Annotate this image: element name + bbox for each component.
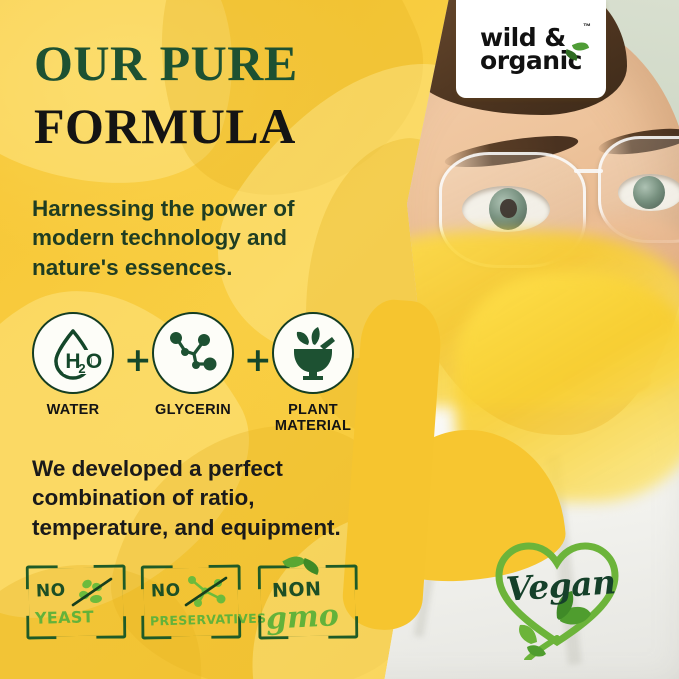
ingredient-water: H 2 O WATER	[32, 312, 114, 419]
non-gmo-badge: NON gmo	[258, 565, 358, 639]
ingredient-plant-material: PLANT MATERIAL	[272, 312, 354, 434]
crossed-out-molecule-icon	[183, 575, 229, 609]
product-infographic-poster: wild & ™ organic OUR PURE FORMULA Harnes…	[0, 0, 679, 679]
plus-separator: +	[244, 340, 272, 379]
vegan-badge: Vegan	[487, 534, 627, 660]
lips	[562, 367, 650, 396]
plus-separator: +	[124, 340, 152, 379]
no-yeast-badge: NO YEAST	[26, 565, 126, 639]
eyeglasses-bridge	[574, 169, 603, 173]
brand-logo[interactable]: wild & ™ organic	[456, 0, 606, 98]
badge-top-text: NON	[272, 578, 322, 602]
ingredient-label-plant: PLANT MATERIAL	[272, 403, 354, 434]
page-title-line-1: OUR PURE	[34, 34, 298, 92]
vegan-label: Vegan	[505, 562, 617, 609]
logo-line-1: wild &	[480, 26, 582, 49]
svg-text:O: O	[86, 350, 102, 373]
ingredient-glycerin: GLYCERIN	[152, 312, 234, 419]
ingredient-label-line-2: MATERIAL	[275, 418, 351, 434]
badge-top-text: NO	[36, 580, 66, 601]
crossed-out-yeast-icon	[70, 577, 114, 609]
glycerin-molecule-icon	[152, 312, 234, 394]
ingredient-label-line-1: PLANT	[288, 402, 338, 418]
ingredient-label: GLYCERIN	[152, 403, 234, 419]
page-title-line-2: FORMULA	[34, 97, 296, 155]
badge-bottom-text: gmo	[265, 598, 339, 637]
water-drop-h2o-icon: H 2 O	[32, 312, 114, 394]
certification-badges: NO YEAST NO PRESERVATIVES	[26, 565, 371, 645]
lead-paragraph: Harnessing the power of modern technolog…	[32, 194, 372, 282]
ingredient-label: WATER	[32, 403, 114, 419]
mortar-and-pestle-icon	[272, 312, 354, 394]
secondary-paragraph: We developed a perfect combination of ra…	[32, 454, 372, 542]
badge-bottom-text: PRESERVATIVES	[150, 610, 267, 628]
badge-bottom-text: YEAST	[35, 607, 94, 628]
no-preservatives-badge: NO PRESERVATIVES	[141, 565, 241, 639]
trademark-symbol: ™	[583, 23, 591, 30]
svg-text:2: 2	[78, 361, 85, 376]
badge-top-text: NO	[151, 580, 181, 601]
ingredients-row: H 2 O WATER +	[32, 312, 392, 442]
